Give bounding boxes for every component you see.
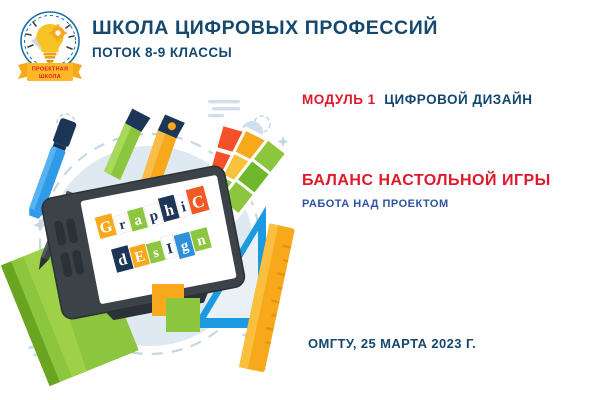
logo-ribbon-line2: ШКОЛА [39, 74, 61, 80]
illustration-area: G r a p h i C d [0, 96, 300, 396]
presentation-slide: ПРОЕКТНАЯ ШКОЛА ШКОЛА ЦИФРОВЫХ ПРОФЕССИЙ… [0, 0, 600, 400]
project-school-logo: ПРОЕКТНАЯ ШКОЛА [12, 8, 88, 86]
module-line: МОДУЛЬ 1 ЦИФРОВОЙ ДИЗАЙН [302, 92, 532, 107]
project-title: БАЛАНС НАСТОЛЬНОЙ ИГРЫ [302, 172, 551, 190]
project-subtitle: РАБОТА НАД ПРОЕКТОМ [302, 198, 449, 210]
module-number: МОДУЛЬ 1 [302, 92, 376, 107]
venue-and-date: ОМГТУ, 25 МАРТА 2023 Г. [308, 336, 476, 351]
module-name: ЦИФРОВОЙ ДИЗАЙН [384, 92, 532, 107]
green-square [166, 298, 200, 332]
line-decoration-top [208, 100, 240, 117]
right-text-column: МОДУЛЬ 1 ЦИФРОВОЙ ДИЗАЙН БАЛАНС НАСТОЛЬН… [300, 0, 600, 400]
logo-ribbon-line1: ПРОЕКТНАЯ [32, 66, 68, 72]
lightbulb-gears-logo-icon: ПРОЕКТНАЯ ШКОЛА [12, 8, 88, 86]
graphic-design-workspace-illustration: G r a p h i C d [0, 96, 300, 396]
